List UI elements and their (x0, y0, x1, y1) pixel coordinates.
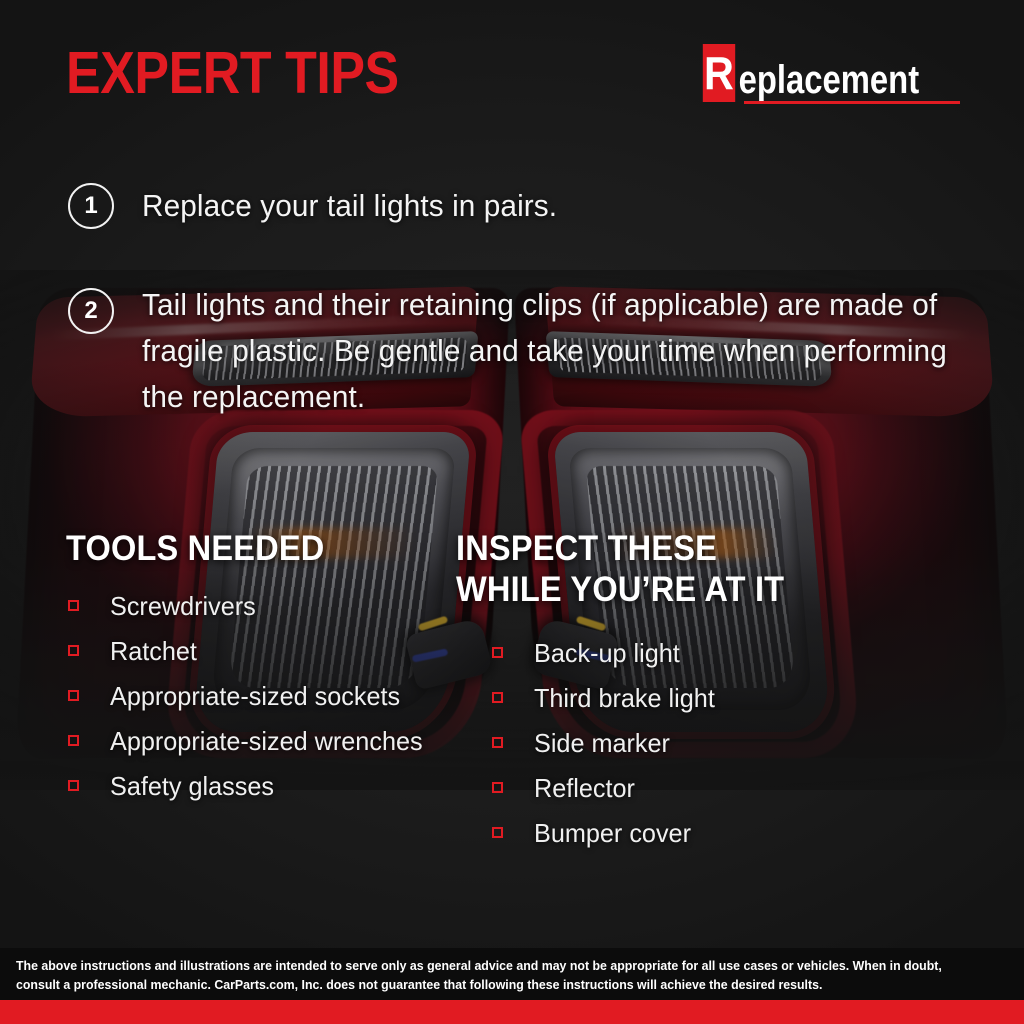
list-item: Bumper cover (456, 810, 856, 855)
list-item-label: Side marker (534, 728, 670, 758)
checkbox-square-icon (68, 735, 79, 746)
list-item-label: Appropriate-sized wrenches (110, 726, 423, 756)
list-item: Side marker (456, 720, 856, 765)
checkbox-square-icon (492, 737, 503, 748)
list-item: Screwdrivers (66, 583, 446, 628)
logo-underline (744, 101, 960, 104)
logo-wordmark: eplacement (737, 60, 920, 102)
checkbox-square-icon (68, 645, 79, 656)
list-item: Ratchet (66, 628, 446, 673)
list-item-label: Appropriate-sized sockets (110, 681, 400, 711)
list-item: Safety glasses (66, 763, 446, 808)
list-item-label: Safety glasses (110, 771, 274, 801)
checkbox-square-icon (68, 780, 79, 791)
list-item-label: Back-up light (534, 638, 680, 668)
tools-list: Screwdrivers Ratchet Appropriate-sized s… (66, 583, 446, 808)
checkbox-square-icon (492, 692, 503, 703)
column-heading: TOOLS NEEDED (66, 528, 419, 569)
inspect-list: Back-up light Third brake light Side mar… (456, 630, 856, 855)
tools-needed-column: TOOLS NEEDED Screwdrivers Ratchet Approp… (66, 528, 446, 808)
list-item-label: Reflector (534, 773, 635, 803)
footer-disclaimer-band: The above instructions and illustrations… (0, 948, 1024, 1000)
list-item-label: Third brake light (534, 683, 715, 713)
checkbox-square-icon (492, 827, 503, 838)
list-item-label: Ratchet (110, 636, 197, 666)
checkbox-square-icon (68, 600, 79, 611)
logo-r-badge: R (703, 44, 735, 102)
tip-text: Tail lights and their retaining clips (i… (142, 282, 989, 420)
checkbox-square-icon (68, 690, 79, 701)
column-heading: INSPECT THESE WHILE YOU’RE AT IT (456, 528, 828, 610)
page-title: EXPERT TIPS (66, 44, 399, 103)
expert-tips-graphic: EXPERT TIPS R eplacement 1 Replace your … (0, 0, 1024, 1024)
tip-number-badge: 1 (68, 183, 114, 229)
checkbox-square-icon (492, 647, 503, 658)
tip-item-2: 2 Tail lights and their retaining clips … (68, 288, 1024, 420)
inspect-these-column: INSPECT THESE WHILE YOU’RE AT IT Back-up… (456, 528, 856, 855)
list-item: Appropriate-sized wrenches (66, 718, 446, 763)
disclaimer-text: The above instructions and illustrations… (16, 956, 958, 994)
tip-text: Replace your tail lights in pairs. (142, 183, 557, 229)
list-item: Back-up light (456, 630, 856, 675)
list-item: Appropriate-sized sockets (66, 673, 446, 718)
tip-item-1: 1 Replace your tail lights in pairs. (68, 183, 574, 229)
list-item: Third brake light (456, 675, 856, 720)
bottom-accent-bar (0, 1000, 1024, 1024)
tip-number-badge: 2 (68, 288, 114, 334)
list-item: Reflector (456, 765, 856, 810)
list-item-label: Screwdrivers (110, 591, 256, 621)
checkbox-square-icon (492, 782, 503, 793)
replacement-brand-logo: R eplacement (701, 44, 960, 102)
list-item-label: Bumper cover (534, 818, 691, 848)
